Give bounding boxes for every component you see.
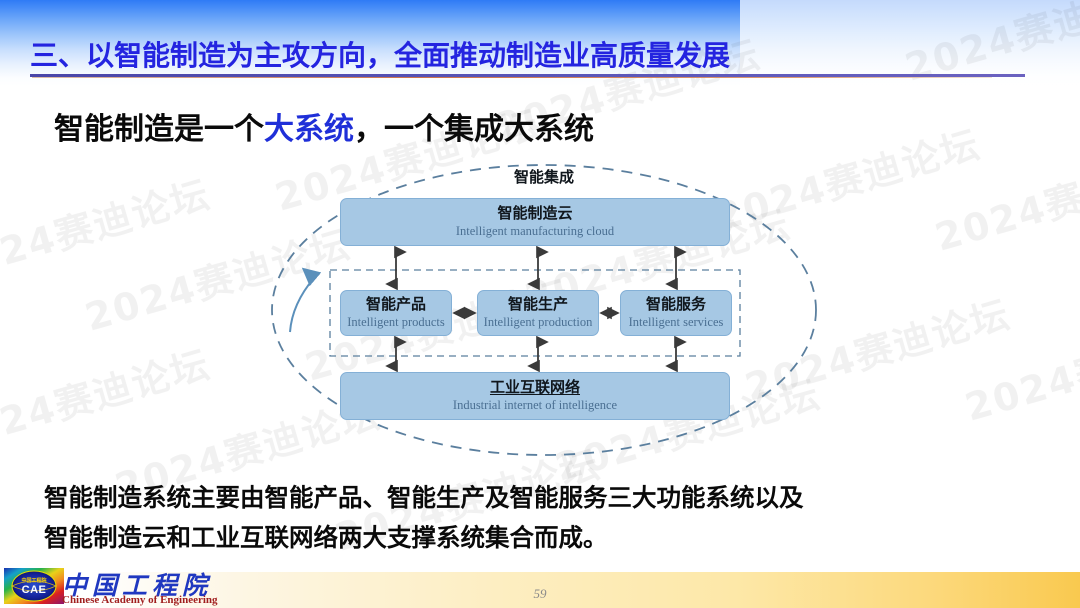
- slide-title-container: 三、以智能制造为主攻方向，全面推动制造业高质量发展: [30, 34, 730, 74]
- diagram-node-industrial-internet[interactable]: 工业互联网络 Industrial internet of intelligen…: [340, 372, 730, 420]
- node-label-cn: 智能制造云: [497, 205, 572, 222]
- watermark-text: 2024赛迪论坛: [958, 303, 1080, 431]
- svg-text:中国工程院: 中国工程院: [21, 577, 46, 584]
- node-label-cn: 智能服务: [646, 296, 706, 313]
- subtitle: 智能制造是一个大系统，一个集成大系统: [54, 104, 594, 148]
- subtitle-part-after: ，一个集成大系统: [354, 112, 594, 147]
- smart-manufacturing-diagram: 智能集成 智能制造云 Intelligent manufacturing clo…: [268, 160, 820, 460]
- page-number: 59: [0, 586, 1080, 602]
- diagram-node-intelligent-services[interactable]: 智能服务 Intelligent services: [620, 290, 732, 336]
- subtitle-highlight: 大系统: [264, 112, 354, 147]
- body-line-2: 智能制造云和工业互联网络两大支撑系统集合而成。: [44, 518, 1044, 558]
- diagram-node-intelligent-manufacturing-cloud[interactable]: 智能制造云 Intelligent manufacturing cloud: [340, 198, 730, 246]
- slide-canvas: 2024赛迪论坛 2024赛迪论坛 2024赛迪论坛 2024赛迪论坛 2024…: [0, 0, 1080, 608]
- title-underline-red: [32, 77, 992, 78]
- node-label-cn: 工业互联网络: [490, 379, 580, 396]
- node-label-en: Industrial internet of intelligence: [453, 398, 617, 413]
- diagram-node-intelligent-products[interactable]: 智能产品 Intelligent products: [340, 290, 452, 336]
- watermark-text: 2024赛迪论坛: [928, 133, 1080, 261]
- node-label-cn: 智能产品: [366, 296, 426, 313]
- watermark-text: 2024赛迪论坛: [0, 333, 216, 461]
- integration-label: 智能集成: [268, 166, 820, 187]
- body-paragraph: 智能制造系统主要由智能产品、智能生产及智能服务三大功能系统以及 智能制造云和工业…: [44, 478, 1044, 557]
- watermark-text: 2024赛迪论坛: [0, 163, 216, 291]
- node-label-cn: 智能生产: [508, 296, 568, 313]
- page-title: 三、以智能制造为主攻方向，全面推动制造业高质量发展: [30, 34, 730, 74]
- ellipse-flow-arrow: [290, 278, 314, 332]
- body-line-1: 智能制造系统主要由智能产品、智能生产及智能服务三大功能系统以及: [44, 478, 1044, 518]
- subtitle-part-before: 智能制造是一个: [54, 112, 264, 147]
- node-label-en: Intelligent manufacturing cloud: [456, 224, 614, 239]
- diagram-node-intelligent-production[interactable]: 智能生产 Intelligent production: [477, 290, 599, 336]
- node-label-en: Intelligent production: [484, 315, 593, 330]
- node-label-en: Intelligent services: [629, 315, 724, 330]
- node-label-en: Intelligent products: [347, 315, 445, 330]
